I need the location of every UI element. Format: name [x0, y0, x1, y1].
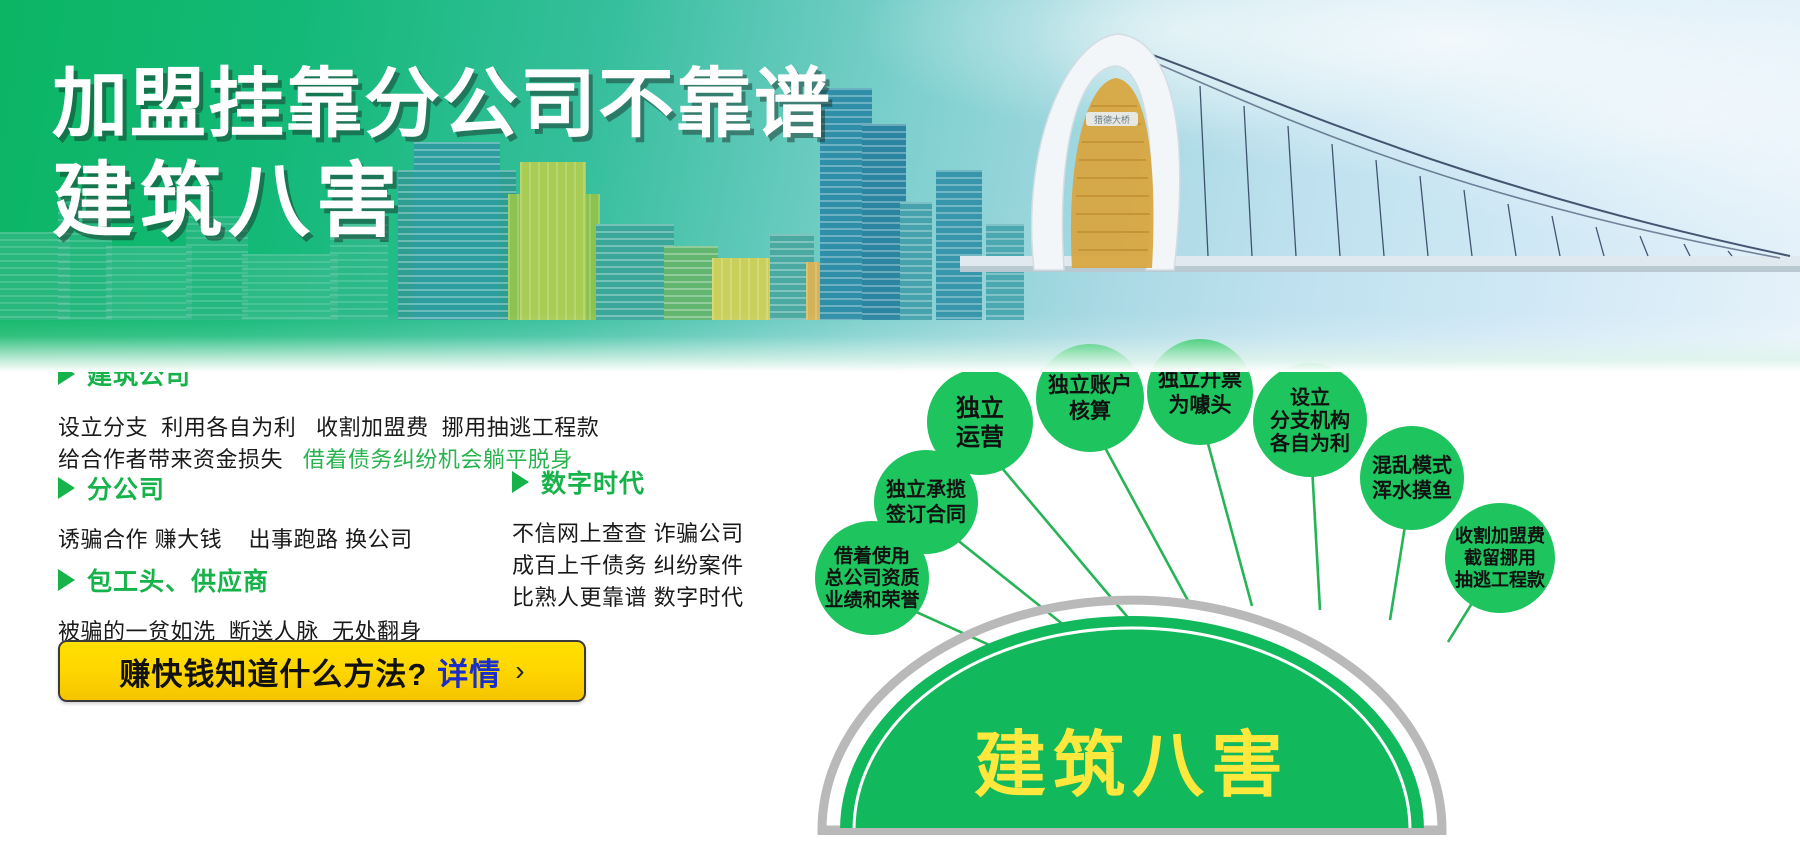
bubble-line: 为噱头 [1169, 394, 1232, 417]
bubble-b8[interactable]: 收割加盟费 截留挪用 抽逃工程款 [1445, 503, 1555, 613]
bubble-line: 抽逃工程款 [1455, 569, 1546, 590]
bubble-circle [1360, 426, 1464, 530]
section-title: 分公司 [87, 470, 165, 506]
page-title: 加盟挂靠分公司不靠谱 建筑八害 [52, 58, 832, 252]
chevron-right-icon: › [515, 655, 524, 687]
body-line: 不信网上查查 诈骗公司 [512, 518, 744, 550]
bubble-line: 浑水摸鱼 [1372, 478, 1452, 502]
section-contractor-supplier: 包工头、供应商 被骗的一贫如洗 断送人脉 无处翻身 [58, 562, 422, 648]
hero-title-line-2: 建筑八害 [52, 152, 832, 252]
bubble-line: 签订合同 [885, 502, 966, 526]
bubble-line: 各自为利 [1269, 431, 1350, 455]
section-header: 数字时代 [512, 464, 744, 500]
hero-title-line-1: 加盟挂靠分公司不靠谱 [52, 58, 832, 152]
bubble-line: 独立账户 [1048, 373, 1132, 397]
bubble-b7[interactable]: 混乱模式 浑水摸鱼 [1360, 426, 1464, 530]
skyline-block-left [106, 246, 192, 320]
left-content-pane: 建筑公司 设立分支 利用各自为利 收割加盟费 挪用抽逃工程款 给合作者带来资金损… [0, 372, 800, 844]
bubble-line: 分支机构 [1270, 408, 1350, 432]
triangle-bullet-icon [58, 569, 75, 591]
body-line: 比熟人更靠谱 数字时代 [512, 582, 744, 614]
svg-text:猎德大桥: 猎德大桥 [1094, 114, 1130, 125]
bubble-line: 核算 [1069, 399, 1111, 423]
bubble-line: 业绩和荣誉 [824, 588, 920, 611]
dome-label: 建筑八害 [974, 726, 1290, 806]
section-header: 包工头、供应商 [58, 562, 422, 598]
skyline-tower [712, 258, 776, 320]
hero-bottom-fade [0, 312, 1800, 372]
bubble-line: 混乱模式 [1372, 453, 1452, 477]
section-construction-company: 建筑公司 设立分支 利用各自为利 收割加盟费 挪用抽逃工程款 给合作者带来资金损… [58, 356, 599, 476]
bridge-illustration: 猎德大桥 [960, 20, 1800, 320]
triangle-bullet-icon [512, 471, 529, 493]
bubble-line: 独立承揽 [886, 477, 966, 501]
bubble-line: 借着使用 [833, 544, 910, 567]
bubble-line: 截留挪用 [1464, 547, 1536, 568]
bubble-line: 收割加盟费 [1455, 525, 1545, 546]
body-text-black: 给合作者带来资金损失 [58, 447, 283, 472]
section-body: 诱骗合作 赚大钱 出事跑路 换公司 [58, 524, 413, 556]
bubble-b6[interactable]: 设立 分支机构 各自为利 [1253, 363, 1367, 477]
details-cta-button[interactable]: 赚快钱知道什么方法? 详情 › [58, 640, 586, 702]
bubble-line: 设立 [1290, 385, 1330, 409]
cta-label: 赚快钱知道什么方法? [119, 649, 427, 694]
body-line: 设立分支 利用各自为利 收割加盟费 挪用抽逃工程款 [58, 412, 599, 444]
body-line: 成百上千债务 纠纷案件 [512, 550, 744, 582]
section-title: 包工头、供应商 [87, 562, 269, 598]
dome-baseline [818, 828, 1446, 835]
bubble-line: 运营 [956, 424, 1004, 451]
hero-banner: 猎德大桥 加盟挂靠分公司不靠谱 建筑八害 [0, 0, 1800, 372]
section-digital-era: 数字时代 不信网上查查 诈骗公司 成百上千债务 纠纷案件 比熟人更靠谱 数字时代 [512, 464, 744, 614]
section-branch-company: 分公司 诱骗合作 赚大钱 出事跑路 换公司 [58, 470, 413, 556]
body-line: 诱骗合作 赚大钱 出事跑路 换公司 [58, 524, 413, 556]
bubble-line: 独立 [956, 394, 1004, 422]
skyline-tower [900, 202, 932, 320]
bubble-b3[interactable]: 独立 运营 [927, 369, 1033, 475]
triangle-bullet-icon [58, 477, 75, 499]
section-header: 分公司 [58, 470, 413, 506]
cta-details-link[interactable]: 详情 [437, 649, 501, 694]
section-body: 不信网上查查 诈骗公司 成百上千债务 纠纷案件 比熟人更靠谱 数字时代 [512, 518, 744, 614]
eight-harms-diagram: 建筑八害 借着使用 总公司资质 业绩和荣誉 独立承揽 签订合同 独立 运营 独立… [800, 330, 1800, 844]
diagram-svg: 建筑八害 借着使用 总公司资质 业绩和荣誉 独立承揽 签订合同 独立 运营 独立… [800, 330, 1800, 844]
bubble-circle [927, 369, 1033, 475]
skyline-tower [664, 246, 718, 320]
bubble-line: 总公司资质 [824, 566, 919, 589]
skyline-block-left [242, 254, 338, 320]
section-title: 数字时代 [541, 464, 645, 500]
